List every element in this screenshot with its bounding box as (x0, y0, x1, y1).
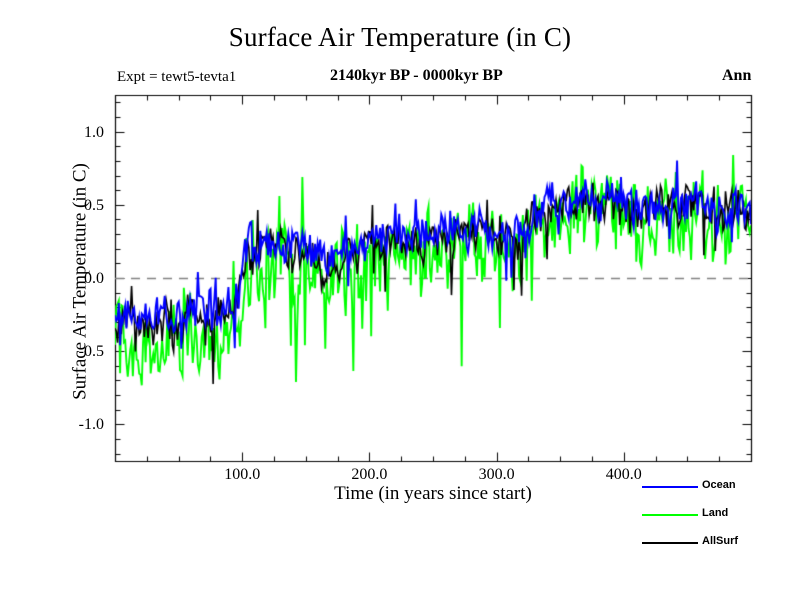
legend-label: AllSurf (702, 535, 738, 547)
x-tick-label: 300.0 (457, 466, 537, 484)
legend-label: Land (702, 507, 728, 519)
averaging-label: Ann (722, 68, 751, 84)
chart-legend: OceanLandAllSurf (636, 478, 796, 562)
x-tick-label: 100.0 (202, 466, 282, 484)
chart-title: Surface Air Temperature (in C) (0, 24, 800, 51)
temperature-timeseries-figure: Surface Air Temperature (in C) Expt = te… (0, 0, 800, 600)
legend-color-swatch (642, 486, 698, 488)
experiment-label: Expt = tewt5-tevta1 (117, 70, 236, 85)
legend-color-swatch (642, 514, 698, 516)
legend-entry: Ocean (636, 478, 796, 506)
legend-entry: AllSurf (636, 534, 796, 562)
legend-color-swatch (642, 542, 698, 544)
legend-entry: Land (636, 506, 796, 534)
y-axis-title: Surface Air Temperature (in C) (71, 82, 90, 482)
x-tick-label: 200.0 (329, 466, 409, 484)
legend-label: Ocean (702, 479, 736, 491)
period-label: 2140kyr BP - 0000kyr BP (330, 68, 503, 84)
